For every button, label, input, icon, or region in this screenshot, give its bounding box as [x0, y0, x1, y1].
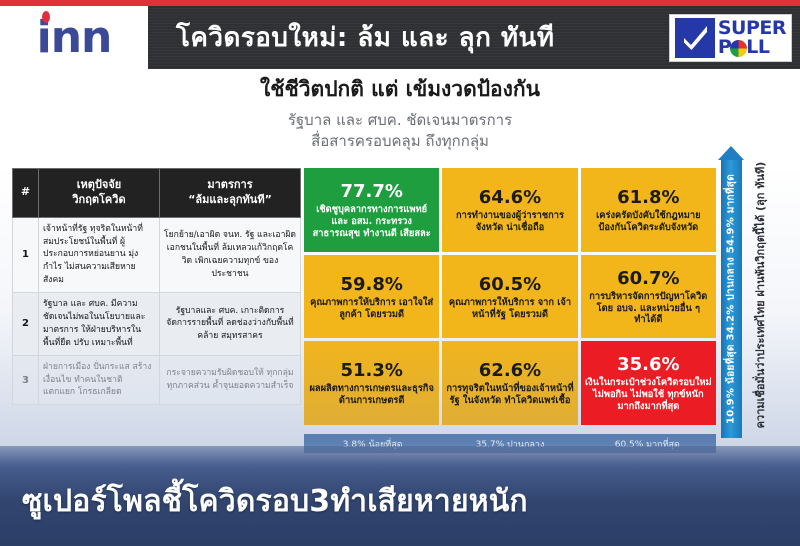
stat-value: 59.8% — [340, 273, 402, 296]
row-measure: รัฐบาลและ ศบค. เกาะติดการจัดการรายพื้นที… — [160, 293, 301, 356]
subtitle-line-2: สื่อสารครอบคลุม ถึงทุกกลุ่ม — [0, 131, 800, 151]
column-header-cause: เหตุปัจจัย วิกฤตโควิด — [39, 169, 160, 218]
infographic-root: inn โควิดรอบใหม่: ล้ม และ ลุก ทันที SUPE… — [0, 0, 800, 546]
stat-label: การบริหารจัดการปัญหาโควิด โดย อบจ. และหน… — [585, 291, 712, 327]
inn-logo: inn — [37, 16, 112, 60]
stat-value: 51.3% — [340, 359, 402, 382]
column-header-number: # — [13, 169, 39, 218]
row-number: 1 — [13, 217, 39, 292]
stat-label: เชิดชูบุคลากรทางการแพทย์และ อสม. กระทรวง… — [308, 204, 435, 240]
header: inn โควิดรอบใหม่: ล้ม และ ลุก ทันที SUPE… — [0, 6, 800, 69]
stat-label: ผลผลิตทางการเกษตรและธุรกิจด้านการเกษตรดี — [308, 383, 435, 407]
stat-value: 60.7% — [617, 267, 679, 290]
factors-measures-table: # เหตุปัจจัย วิกฤตโควิด มาตรการ “ล้มและล… — [12, 168, 301, 405]
column-header-cause-line2: วิกฤตโควิด — [41, 193, 157, 208]
stat-cell: 62.6% การทุจริตในหน้าที่ของเจ้าหน้าที่รั… — [442, 341, 577, 425]
stat-cell: 60.5% คุณภาพการให้บริการ จาก เจ้าหน้าที่… — [442, 255, 577, 339]
bottom-headline: ซูเปอร์โพลชี้โควิดรอบ3ทำเสียหายหนัก — [22, 478, 528, 525]
logo-dot-icon — [42, 11, 50, 23]
page-subtitle: รัฐบาล และ ศบค. ชัดเจนมาตรการ สื่อสารครอ… — [0, 110, 800, 151]
stat-label: คุณภาพการให้บริการ จาก เจ้าหน้าที่รัฐ โด… — [446, 297, 573, 321]
row-number: 2 — [13, 293, 39, 356]
page-title: ใช้ชีวิตปกติ แต่ เข้มงวดป้องกัน — [0, 76, 800, 103]
stat-value: 77.7% — [340, 180, 402, 203]
stat-label: การทุจริตในหน้าที่ของเจ้าหน้าที่รัฐ ในจั… — [446, 383, 573, 407]
table-header-row: # เหตุปัจจัย วิกฤตโควิด มาตรการ “ล้มและล… — [13, 169, 301, 218]
column-header-measure: มาตรการ “ล้มและลุกทันที” — [160, 169, 301, 218]
superpoll-poll-text: P LL — [718, 38, 786, 57]
title-block: ใช้ชีวิตปกติ แต่ เข้มงวดป้องกัน รัฐบาล แ… — [0, 76, 800, 151]
stat-cell: 61.8% เคร่งครัดบังคับใช้กฎหมายป้องกันโคว… — [581, 168, 716, 252]
table-row: 1 เจ้าหน้าที่รัฐ ทุจริตในหน้าที่ สมประโย… — [13, 217, 301, 292]
stat-cell: 59.8% คุณภาพการให้บริการ เอาใจใส่ลูกค้า … — [304, 255, 439, 339]
stat-value: 35.6% — [617, 353, 679, 376]
stat-value: 62.6% — [479, 359, 541, 382]
superpoll-wordmark: SUPER P LL — [718, 19, 786, 57]
header-title: โควิดรอบใหม่: ล้ม และ ลุก ทันที — [162, 17, 554, 58]
row-number: 3 — [13, 355, 39, 405]
column-header-measure-line2: “ล้มและลุกทันที” — [162, 193, 298, 208]
stat-cell: 60.7% การบริหารจัดการปัญหาโควิด โดย อบจ.… — [581, 255, 716, 339]
stat-value: 61.8% — [617, 186, 679, 209]
stat-cell: 64.6% การทำงานของผู้ว่าราชการจังหวัด น่า… — [442, 168, 577, 252]
confidence-axis-label-text: ความเชื่อมั่นว่าประเทศไทย ผ่านพ้นวิกฤตนี… — [751, 162, 769, 429]
table-row: 3 ฝ่ายการเมือง ปั่นกระแส สร้างเงื่อนไข ท… — [13, 355, 301, 405]
pie-chart-icon — [730, 40, 747, 57]
stat-label: การทำงานของผู้ว่าราชการจังหวัด น่าเชื่อถ… — [446, 210, 573, 234]
table-row: 2 รัฐบาล และ ศบค. มีความชัดเจนไม่พอในนโย… — [13, 293, 301, 356]
header-band: โควิดรอบใหม่: ล้ม และ ลุก ทันที SUPER P … — [148, 6, 800, 69]
stat-value: 60.5% — [479, 273, 541, 296]
stat-cell: 35.6% เงินในกระเป๋าช่วงโควิดรอบใหม่ ไม่พ… — [581, 341, 716, 425]
stat-label: คุณภาพการให้บริการ เอาใจใส่ลูกค้า โดยรวม… — [308, 297, 435, 321]
stat-cell: 51.3% ผลผลิตทางการเกษตรและธุรกิจด้านการเ… — [304, 341, 439, 425]
confidence-axis-label: ความเชื่อมั่นว่าประเทศไทย ผ่านพ้นวิกฤตนี… — [748, 150, 772, 440]
stat-label: เคร่งครัดบังคับใช้กฎหมายป้องกันโควิดระดั… — [585, 210, 712, 234]
check-icon — [675, 18, 715, 58]
arrow-up-icon — [718, 146, 744, 160]
stat-value: 64.6% — [479, 186, 541, 209]
superpoll-logo: SUPER P LL — [669, 14, 792, 62]
row-measure: กระจายความรับผิดชอบให้ ทุกกลุ่ม ทุกภาคส่… — [160, 355, 301, 405]
arrow-scale-text: 10.9% น้อยที่สุด 34.2% ปานกลาง 54.9% มาก… — [724, 174, 739, 424]
superpoll-ll: LL — [746, 38, 769, 57]
arrow-body: 10.9% น้อยที่สุด 34.2% ปานกลาง 54.9% มาก… — [721, 160, 742, 438]
stat-label: เงินในกระเป๋าช่วงโควิดรอบใหม่ ไม่พอกิน ไ… — [585, 377, 712, 413]
percentage-grid: 77.7% เชิดชูบุคลากรทางการแพทย์และ อสม. ก… — [304, 168, 716, 425]
column-header-measure-line1: มาตรการ — [162, 178, 298, 193]
subtitle-line-1: รัฐบาล และ ศบค. ชัดเจนมาตรการ — [0, 110, 800, 130]
row-cause: รัฐบาล และ ศบค. มีความชัดเจนไม่พอในนโยบา… — [39, 293, 160, 356]
superpoll-super-text: SUPER — [718, 19, 786, 38]
superpoll-p: P — [718, 38, 731, 57]
column-header-cause-line1: เหตุปัจจัย — [41, 178, 157, 193]
stat-cell: 77.7% เชิดชูบุคลากรทางการแพทย์และ อสม. ก… — [304, 168, 439, 252]
brand-logo-zone: inn — [0, 6, 148, 69]
row-measure: โยกย้าย/เอาผิด จนท. รัฐ และเอาผิดเอกชนใน… — [160, 217, 301, 292]
confidence-arrow: 10.9% น้อยที่สุด 34.2% ปานกลาง 54.9% มาก… — [718, 146, 744, 438]
row-cause: ฝ่ายการเมือง ปั่นกระแส สร้างเงื่อนไข ทำค… — [39, 355, 160, 405]
row-cause: เจ้าหน้าที่รัฐ ทุจริตในหน้าที่ สมประโยชน… — [39, 217, 160, 292]
